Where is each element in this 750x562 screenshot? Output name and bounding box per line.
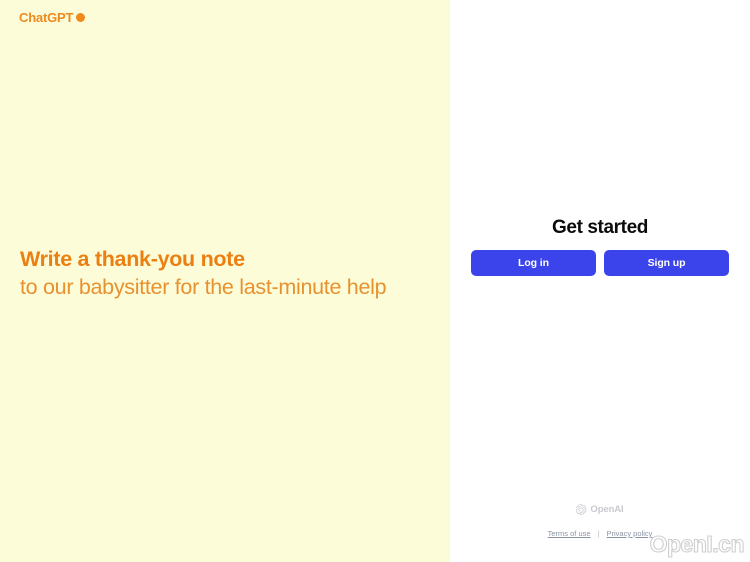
promo-subline: to our babysitter for the last-minute he… [20,273,415,301]
openai-wordmark: OpenAI [590,505,623,515]
chatgpt-landing-screen: ChatGPT Write a thank-you note to our ba… [0,0,750,562]
auth-buttons-row: Log in Sign up [471,250,729,276]
openai-brand-mark: OpenAI [576,504,623,515]
footer-separator: | [598,529,600,538]
terms-of-use-link[interactable]: Terms of use [548,529,591,538]
footer-links: Terms of use | Privacy policy [548,529,653,538]
signup-button[interactable]: Sign up [604,250,729,276]
get-started-title: Get started [552,216,648,240]
chatgpt-wordmark: ChatGPT [19,11,73,24]
auth-block: Get started Log in Sign up [450,216,750,276]
orange-dot-icon [76,13,85,22]
privacy-policy-link[interactable]: Privacy policy [607,529,653,538]
site-watermark: OpenI.cn [650,533,744,556]
promo-headline: Write a thank-you note [20,245,415,273]
login-button[interactable]: Log in [471,250,596,276]
openai-logo-icon [576,504,587,515]
right-auth-panel: Get started Log in Sign up OpenAI Terms … [450,0,750,562]
chatgpt-brand-logo[interactable]: ChatGPT [19,11,85,24]
left-promo-panel: ChatGPT Write a thank-you note to our ba… [0,0,450,562]
promo-suggestion: Write a thank-you note to our babysitter… [20,245,415,301]
